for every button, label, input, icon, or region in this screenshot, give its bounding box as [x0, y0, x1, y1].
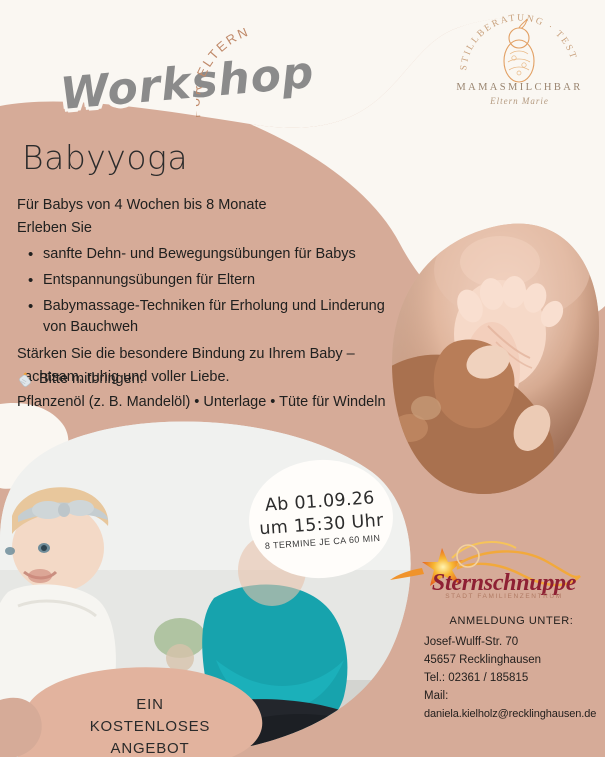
list-item: sanfte Dehn- und Bewegungsübungen für Ba…	[43, 244, 397, 265]
bring-along-items: Pflanzenöl (z. B. Mandelöl) • Unterlage …	[17, 391, 407, 414]
free-offer-line-1: EIN	[55, 694, 245, 716]
baby-bottle-icon	[17, 372, 33, 388]
registration-heading: ANMELDUNG UNTER:	[424, 612, 599, 630]
bring-along-heading-row: Bitte mitbringen:	[17, 368, 407, 391]
list-item: Entspannungsübungen für Eltern	[43, 270, 397, 291]
svg-text:FÜR ELTERN: FÜR ELTERN	[196, 28, 252, 119]
contact-mail-label: Mail:	[424, 687, 599, 705]
body-copy: Für Babys von 4 Wochen bis 8 Monate Erle…	[17, 194, 397, 389]
for-parents-label: FÜR ELTERN	[196, 28, 252, 119]
free-offer-line-3: ANGEBOT	[55, 738, 245, 757]
mamasmilchbar-logo: STILLBERATUNG · TEST MAMASMILCHBAR Elter…	[452, 14, 587, 119]
benefits-list: sanfte Dehn- und Bewegungsübungen für Ba…	[17, 244, 397, 338]
brand-subtitle: Eltern Marie	[452, 96, 587, 106]
contact-street: Josef-Wulff-Str. 70	[424, 633, 599, 651]
bring-along-block: Bitte mitbringen: Pflanzenöl (z. B. Mand…	[17, 368, 407, 414]
swaddled-baby-icon	[504, 19, 534, 82]
closing-line-1: Stärken Sie die besondere Bindung zu Ihr…	[17, 343, 397, 366]
svg-text:STILLBERATUNG · TEST: STILLBERATUNG · TEST	[459, 14, 578, 71]
page-title: Babyyoga	[22, 138, 188, 177]
intro-line-2: Erleben Sie	[17, 217, 397, 240]
bring-along-heading: Bitte mitbringen:	[39, 368, 144, 391]
brand-arc-graphic: STILLBERATUNG · TEST	[452, 14, 587, 92]
list-item: Babymassage-Techniken für Erholung und L…	[43, 296, 397, 338]
brand-arc-label: STILLBERATUNG · TEST	[459, 14, 578, 71]
intro-line-1: Für Babys von 4 Wochen bis 8 Monate	[17, 194, 397, 217]
contact-mail-address[interactable]: daniela.kielholz@recklinghausen.de	[424, 705, 599, 723]
contact-phone: Tel.: 02361 / 185815	[424, 669, 599, 687]
sternschnuppe-subtitle: STADT FAMILIENZENTRUM	[424, 593, 584, 600]
flyer-canvas: Workshop FÜR ELTERN STILLBERATUNG · TEST…	[0, 0, 605, 757]
free-offer-note: EIN KOSTENLOSES ANGEBOT	[55, 694, 245, 757]
sternschnuppe-logo: Sternschnuppe STADT FAMILIENZENTRUM	[424, 546, 584, 604]
contact-city: 45657 Recklinghausen	[424, 651, 599, 669]
contact-block: ANMELDUNG UNTER: Josef-Wulff-Str. 70 456…	[424, 612, 599, 723]
free-offer-line-2: KOSTENLOSES	[55, 716, 245, 738]
brand-name: MAMASMILCHBAR	[452, 82, 587, 93]
for-parents-arc-text: FÜR ELTERN	[196, 28, 326, 138]
